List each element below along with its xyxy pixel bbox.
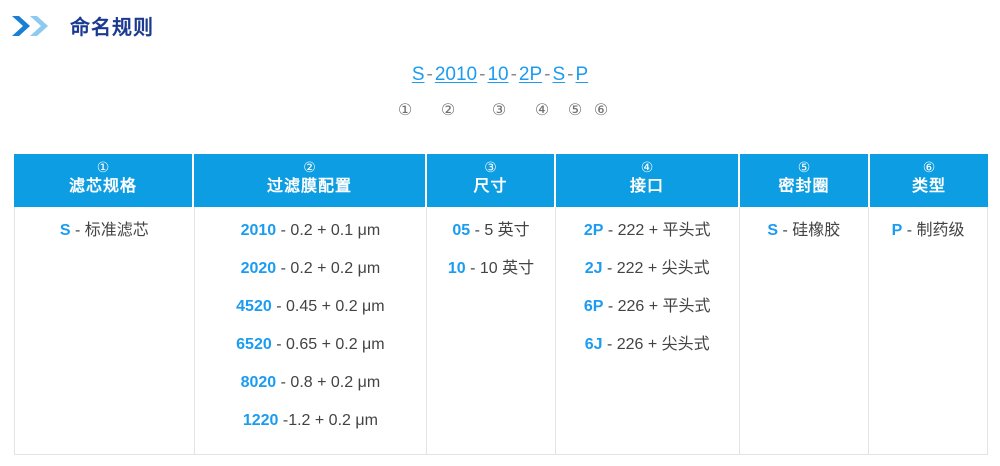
option-item: S - 硅橡胶 (740, 223, 869, 239)
option-code: 1220 (243, 412, 279, 429)
table-header-label-5: 密封圈 (740, 176, 868, 198)
option-item: 1220 -1.2 + 0.2 μm (195, 413, 427, 429)
option-code: 2020 (241, 260, 277, 277)
code-separator-3: - (509, 64, 519, 85)
option-desc: - 5 英寸 (475, 222, 530, 239)
table-header-cell-1: ① 滤芯规格 (14, 154, 194, 207)
option-code: 2J (585, 260, 603, 277)
code-marker-5: ⑤ (560, 100, 590, 120)
code-marker-6: ⑥ (590, 100, 612, 120)
option-item: 8020 - 0.8 + 0.2 μm (195, 375, 427, 391)
table-header-num-5: ⑤ (740, 158, 868, 176)
table-cell-seal-ring: S - 硅橡胶 (740, 207, 870, 454)
option-code: 05 (452, 222, 470, 239)
option-desc: - 0.2 + 0.2 μm (281, 260, 380, 277)
option-code: 2010 (241, 222, 277, 239)
table-header-label-2: 过滤膜配置 (194, 176, 425, 198)
table-cell-size: 05 - 5 英寸 10 - 10 英寸 (427, 207, 556, 454)
page-header: 命名规则 (0, 8, 1000, 48)
option-code: 6P (584, 298, 604, 315)
option-item: 6J - 226 + 尖头式 (556, 337, 739, 353)
double-chevron-right-icon (10, 13, 52, 44)
page-title: 命名规则 (70, 18, 154, 38)
table-cell-type: P - 制药级 (869, 207, 987, 454)
option-item: 05 - 5 英寸 (427, 223, 555, 239)
code-separator-4: - (542, 64, 552, 85)
option-desc: - 222 + 尖头式 (607, 260, 710, 277)
code-separator-5: - (565, 64, 575, 85)
option-item: 4520 - 0.45 + 0.2 μm (195, 299, 427, 315)
option-item: 6P - 226 + 平头式 (556, 299, 739, 315)
table-header-label-4: 接口 (556, 176, 738, 198)
table-header-cell-6: ⑥ 类型 (870, 154, 988, 207)
table-cell-filter-spec: S - 标准滤芯 (15, 207, 195, 454)
code-separator-2: - (477, 64, 487, 85)
table-header-num-1: ① (14, 158, 192, 176)
naming-rule-table: ① 滤芯规格 ② 过滤膜配置 ③ 尺寸 ④ 接口 ⑤ 密封圈 ⑥ 类型 S - … (14, 154, 988, 455)
option-code: P (892, 222, 903, 239)
option-desc: - 0.2 + 0.1 μm (281, 222, 380, 239)
option-item: 2020 - 0.2 + 0.2 μm (195, 261, 427, 277)
code-separator-1: - (425, 64, 435, 85)
option-item: 2P - 222 + 平头式 (556, 223, 739, 239)
table-header-row: ① 滤芯规格 ② 过滤膜配置 ③ 尺寸 ④ 接口 ⑤ 密封圈 ⑥ 类型 (14, 154, 988, 207)
model-code-line: S-2010-10-2P-S-P (0, 64, 1000, 86)
option-item: P - 制药级 (869, 223, 987, 239)
table-header-label-3: 尺寸 (427, 176, 554, 198)
table-header-num-2: ② (194, 158, 425, 176)
code-segment-2: 2010 (435, 64, 477, 85)
option-item: 6520 - 0.65 + 0.2 μm (195, 337, 427, 353)
table-header-cell-3: ③ 尺寸 (427, 154, 556, 207)
table-header-num-6: ⑥ (870, 158, 988, 176)
option-desc: - 硅橡胶 (783, 222, 841, 239)
code-segment-4: 2P (519, 64, 542, 85)
code-segment-1: S (412, 64, 425, 85)
option-desc: - 制药级 (907, 222, 965, 239)
option-desc: - 标准滤芯 (75, 222, 149, 239)
option-code: 6520 (236, 336, 272, 353)
option-code: 2P (584, 222, 604, 239)
code-segment-5: S (552, 64, 565, 85)
option-desc: -1.2 + 0.2 μm (283, 412, 378, 429)
table-header-cell-2: ② 过滤膜配置 (194, 154, 427, 207)
option-desc: - 0.45 + 0.2 μm (276, 298, 384, 315)
option-item: S - 标准滤芯 (15, 223, 194, 239)
code-marker-2: ② (422, 100, 474, 120)
option-desc: - 222 + 平头式 (608, 222, 711, 239)
option-desc: - 0.8 + 0.2 μm (281, 374, 380, 391)
option-desc: - 226 + 平头式 (608, 298, 711, 315)
option-code: 6J (585, 336, 603, 353)
code-segment-6: P (576, 64, 589, 85)
code-marker-1: ① (388, 100, 422, 120)
code-marker-row: ①②③④⑤⑥ (0, 100, 1000, 120)
table-header-cell-4: ④ 接口 (556, 154, 740, 207)
table-header-num-3: ③ (427, 158, 554, 176)
code-marker-3: ③ (474, 100, 524, 120)
option-desc: - 10 英寸 (470, 260, 534, 277)
table-header-cell-5: ⑤ 密封圈 (740, 154, 870, 207)
option-desc: - 0.65 + 0.2 μm (276, 336, 384, 353)
option-code: 10 (448, 260, 466, 277)
option-code: S (767, 222, 778, 239)
option-code: 8020 (241, 374, 277, 391)
option-desc: - 226 + 尖头式 (607, 336, 710, 353)
code-segment-3: 10 (487, 64, 508, 85)
table-body-row: S - 标准滤芯 2010 - 0.2 + 0.1 μm 2020 - 0.2 … (14, 207, 988, 455)
code-marker-4: ④ (524, 100, 560, 120)
option-code: 4520 (236, 298, 272, 315)
table-cell-interface: 2P - 222 + 平头式 2J - 222 + 尖头式 6P - 226 +… (556, 207, 740, 454)
table-header-num-4: ④ (556, 158, 738, 176)
option-item: 2010 - 0.2 + 0.1 μm (195, 223, 427, 239)
table-header-label-1: 滤芯规格 (14, 176, 192, 198)
table-header-label-6: 类型 (870, 176, 988, 198)
table-cell-membrane-config: 2010 - 0.2 + 0.1 μm 2020 - 0.2 + 0.2 μm … (195, 207, 428, 454)
option-item: 2J - 222 + 尖头式 (556, 261, 739, 277)
option-item: 10 - 10 英寸 (427, 261, 555, 277)
option-code: S (60, 222, 71, 239)
